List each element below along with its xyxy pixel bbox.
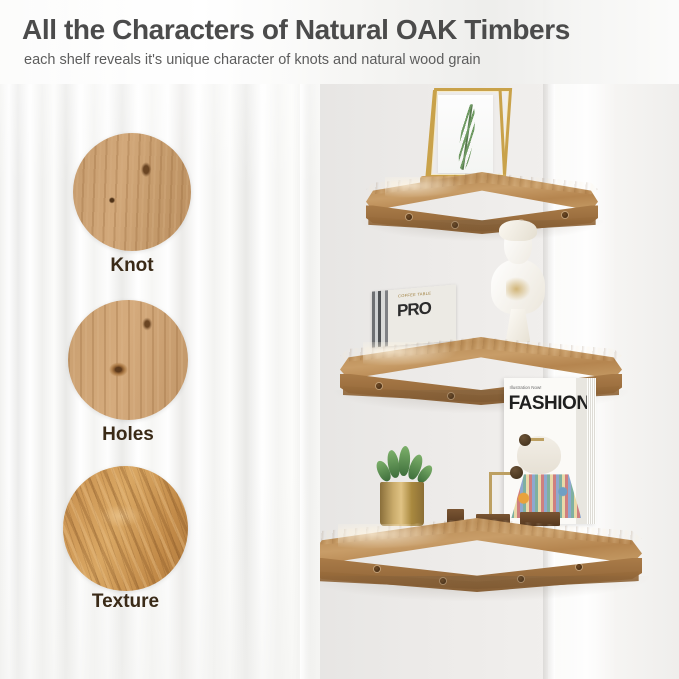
shelf-bottom (312, 518, 642, 592)
curtain-wall-seam (300, 0, 310, 679)
book-cover-title: PRO (397, 298, 451, 342)
shelf-screw (374, 566, 380, 572)
swatch-label-holes: Holes (68, 424, 188, 446)
bust-statue-upper (487, 224, 549, 342)
shelf-top (366, 172, 598, 234)
shelf-screw (448, 393, 454, 399)
gold-picture-frame (425, 88, 508, 178)
lamp-head-upper-icon (519, 434, 531, 446)
shelf-screw (576, 564, 582, 570)
shelf-screw (440, 578, 446, 584)
bust-gold-accent (506, 276, 532, 302)
bust-hair (499, 220, 536, 240)
page-subtitle: each shelf reveals it's unique character… (24, 52, 481, 68)
fashion-book-pages (587, 378, 596, 524)
shelf-screw (518, 576, 524, 582)
fashion-book: Illustration Now! FASHION (504, 378, 596, 524)
page-title: All the Characters of Natural OAK Timber… (22, 14, 570, 46)
fashion-book-title: FASHION (509, 393, 590, 415)
shelf-screw (406, 214, 412, 220)
succulent-plant (372, 446, 434, 486)
swatch-texture (63, 466, 188, 591)
fashion-book-caption: Illustration Now! (510, 385, 542, 390)
product-image: COFFEE TABLE PRO Illustration Now! FASHI… (0, 0, 679, 679)
shelf-screw (376, 383, 382, 389)
header-banner: All the Characters of Natural OAK Timber… (0, 0, 679, 84)
swatch-knot (73, 133, 191, 251)
book-stack: COFFEE TABLE PRO (372, 288, 456, 344)
shelf-screw (562, 212, 568, 218)
shelf-screw (452, 222, 458, 228)
swatch-label-knot: Knot (73, 255, 191, 277)
swatch-holes (68, 300, 188, 420)
swatch-label-texture: Texture (63, 591, 188, 613)
lamp-head-icon (510, 466, 523, 479)
